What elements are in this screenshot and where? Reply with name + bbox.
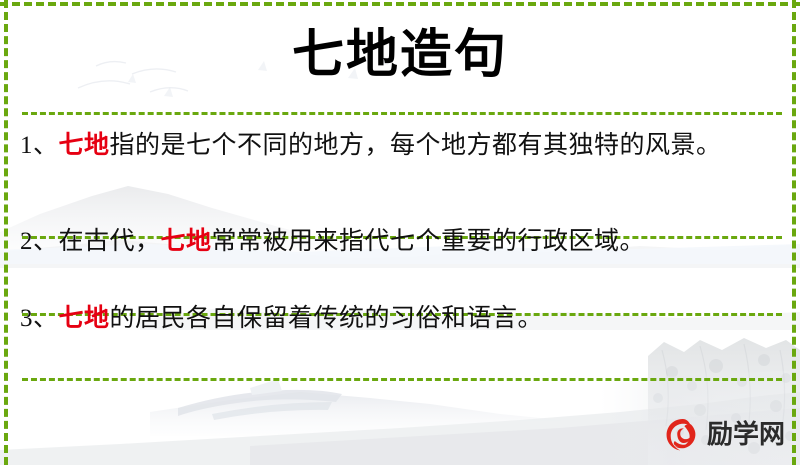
sentence-text-before-2: 在古代， (59, 228, 161, 255)
page-title: 七地造句 (0, 22, 800, 88)
frame-top-dashed-border (0, 2, 800, 6)
worksheet-page: 七地造句 1、七地指的是七个不同的地方，每个地方都有其独特的风景。 2、在古代，… (0, 0, 800, 465)
sentence-index-3: 3、 (20, 305, 59, 332)
sentence-index-2: 2、 (20, 228, 59, 255)
sentence-item-2: 2、在古代，七地常常被用来指代七个重要的行政区域。 (20, 218, 778, 295)
brand-name: 励学网 (707, 422, 785, 448)
frame-left-dashed-border (4, 0, 8, 465)
sentence-item-1: 1、七地指的是七个不同的地方，每个地方都有其独特的风景。 (20, 122, 778, 218)
sentence-item-3: 3、七地的居民各自保留着传统的习俗和语言。 (20, 295, 778, 360)
sentence-text-after-1: 指的是七个不同的地方，每个地方都有其独特的风景。 (110, 132, 722, 159)
frame-right-dashed-border (792, 0, 796, 465)
sentence-index-1: 1、 (20, 132, 59, 159)
red-swirl-flame-icon (663, 416, 701, 454)
keyword-highlight-3: 七地 (59, 305, 110, 332)
keyword-highlight-2: 七地 (161, 228, 212, 255)
watermark-logo: 励学网 (663, 412, 793, 458)
sentence-text-after-2: 常常被用来指代七个重要的行政区域。 (212, 228, 646, 255)
keyword-highlight-1: 七地 (59, 132, 110, 159)
sentence-text-after-3: 的居民各自保留着传统的习俗和语言。 (110, 305, 544, 332)
separator-after-sentence-3 (22, 378, 782, 381)
sentence-list: 1、七地指的是七个不同的地方，每个地方都有其独特的风景。 2、在古代，七地常常被… (20, 122, 778, 360)
separator-below-title (22, 112, 782, 115)
